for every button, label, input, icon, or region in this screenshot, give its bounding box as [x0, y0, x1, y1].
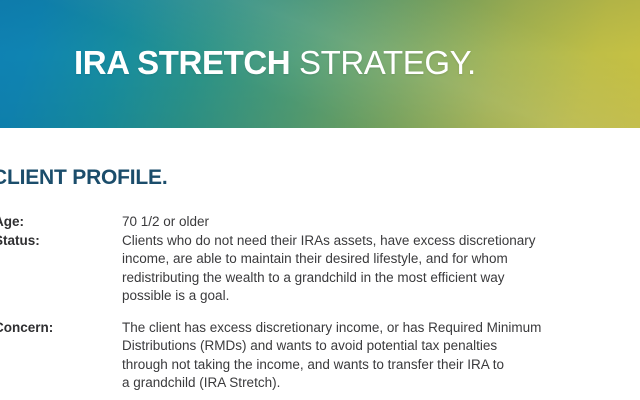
- page-title-bold: IRA STRETCH: [74, 44, 290, 81]
- profile-value-status-line-2: income, are able to maintain their desir…: [122, 250, 640, 269]
- page-title: IRA STRETCH STRATEGY.: [74, 46, 476, 79]
- client-profile-list: Age: 70 1/2 or older Status: Clients who…: [0, 213, 640, 393]
- profile-value-status-line-4: possible is a goal.: [122, 287, 640, 306]
- profile-row-age: Age: 70 1/2 or older: [0, 213, 640, 232]
- profile-value-concern-line-1: The client has excess discretionary inco…: [122, 319, 640, 338]
- page-title-light: STRATEGY.: [290, 44, 476, 81]
- profile-value-status: Clients who do not need their IRAs asset…: [122, 232, 640, 306]
- profile-value-status-line-1: Clients who do not need their IRAs asset…: [122, 232, 640, 251]
- profile-row-concern: Concern: The client has excess discretio…: [0, 319, 640, 393]
- profile-label-status: Status:: [0, 232, 122, 251]
- profile-value-age: 70 1/2 or older: [122, 213, 640, 232]
- profile-value-concern: The client has excess discretionary inco…: [122, 319, 640, 393]
- profile-label-age: Age:: [0, 213, 122, 232]
- section-heading-client-profile: CLIENT PROFILE.: [0, 166, 168, 190]
- profile-value-concern-line-3: through not taking the income, and wants…: [122, 356, 640, 375]
- profile-value-concern-line-2: Distributions (RMDs) and wants to avoid …: [122, 337, 640, 356]
- profile-label-concern: Concern:: [0, 319, 122, 338]
- profile-value-age-line-1: 70 1/2 or older: [122, 213, 640, 232]
- profile-row-status: Status: Clients who do not need their IR…: [0, 232, 640, 306]
- document-page: IRA STRETCH STRATEGY. CLIENT PROFILE. Ag…: [0, 0, 640, 400]
- profile-value-concern-line-4: a grandchild (IRA Stretch).: [122, 374, 640, 393]
- profile-value-status-line-3: redistributing the wealth to a grandchil…: [122, 269, 640, 288]
